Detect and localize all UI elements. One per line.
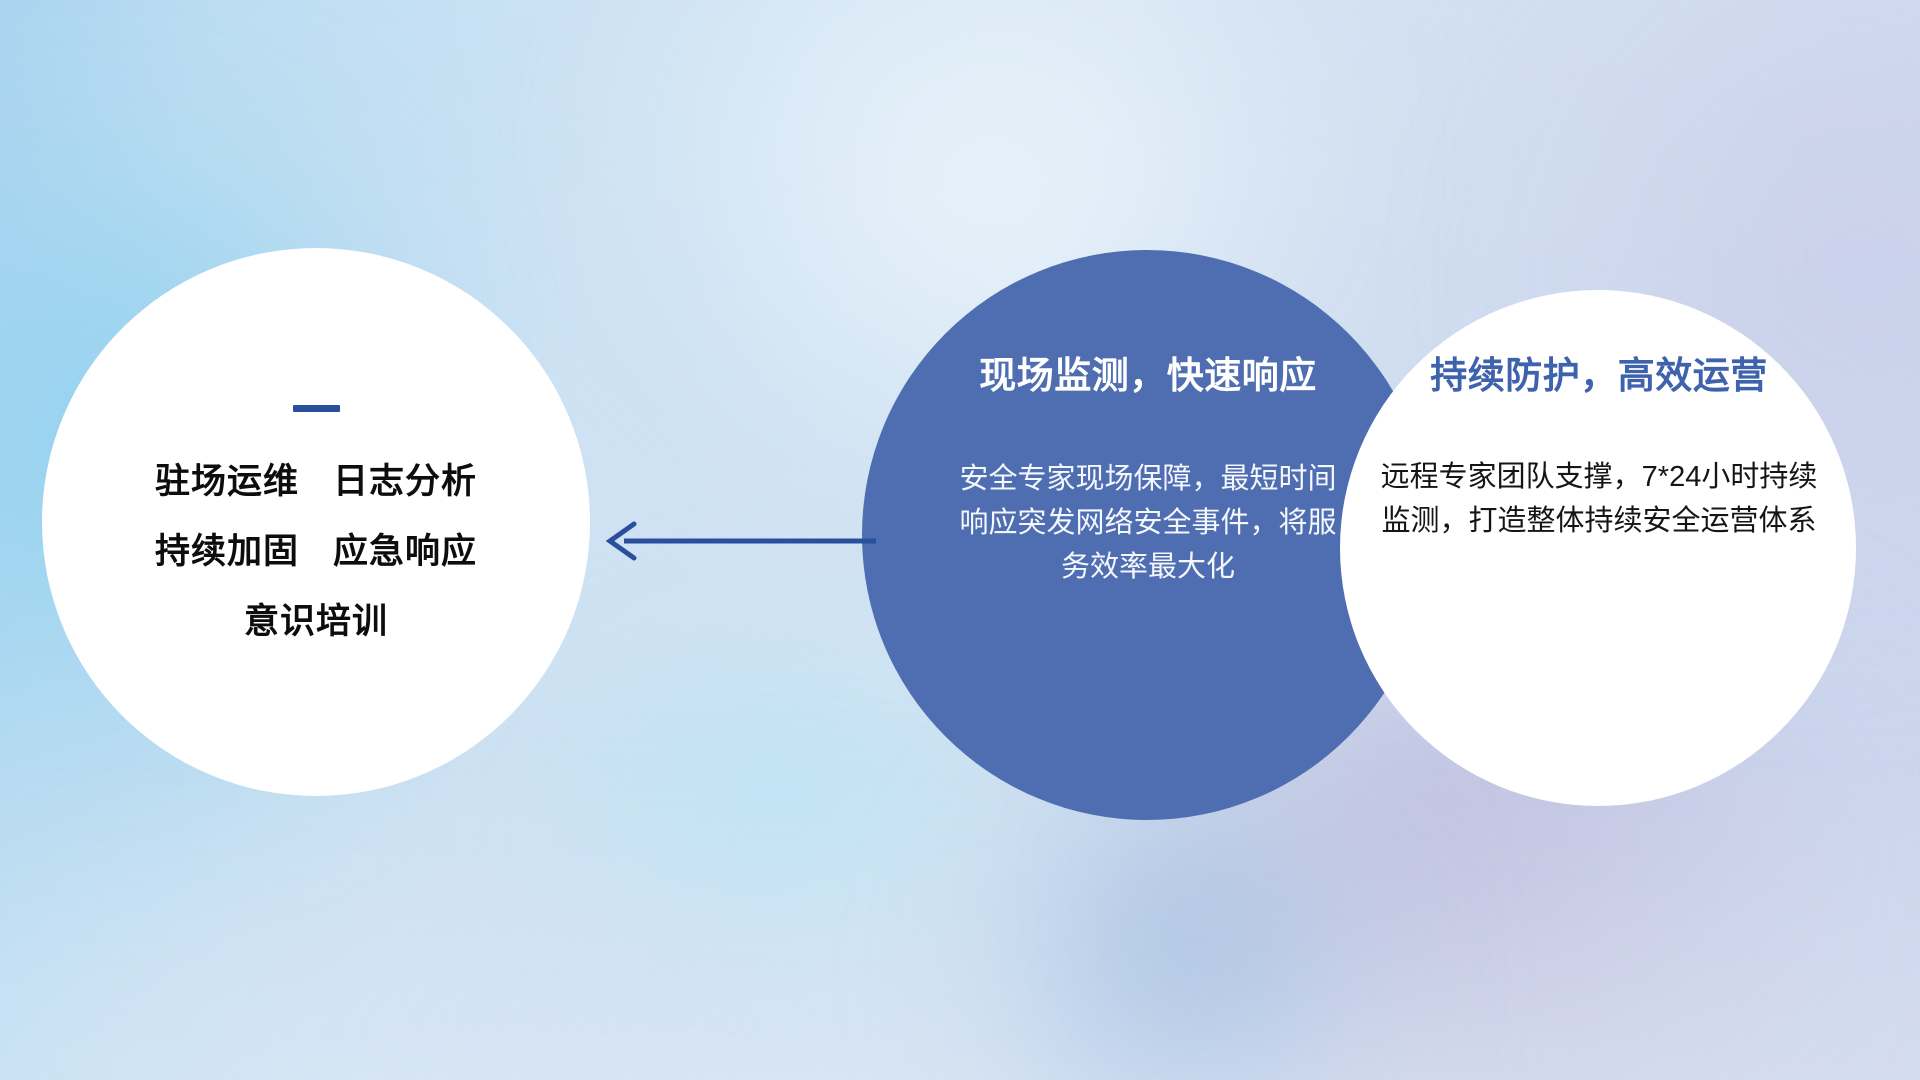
connector-arrow (600, 512, 880, 570)
left-circle-tag: 驻场运维 (155, 464, 299, 499)
left-circle-tag-row: 意识培训 (155, 604, 477, 639)
left-summary-circle: 驻场运维 日志分析 持续加固 应急响应 意识培训 (42, 248, 590, 796)
left-arrow-icon (600, 512, 880, 570)
left-circle-tag: 日志分析 (333, 464, 477, 499)
left-circle-tag: 应急响应 (333, 534, 477, 569)
left-circle-tag: 持续加固 (155, 534, 299, 569)
left-circle-tag-row: 驻场运维 日志分析 (155, 464, 477, 499)
left-circle-tag-list: 驻场运维 日志分析 持续加固 应急响应 意识培训 (155, 464, 477, 639)
right-operations-circle (1340, 290, 1856, 806)
slide-canvas: 驻场运维 日志分析 持续加固 应急响应 意识培训 现场监测，快速响应 安全专家现… (0, 0, 1920, 1080)
left-circle-tag: 意识培训 (244, 604, 388, 639)
horizontal-dash-icon (293, 405, 340, 412)
left-circle-tag-row: 持续加固 应急响应 (155, 534, 477, 569)
